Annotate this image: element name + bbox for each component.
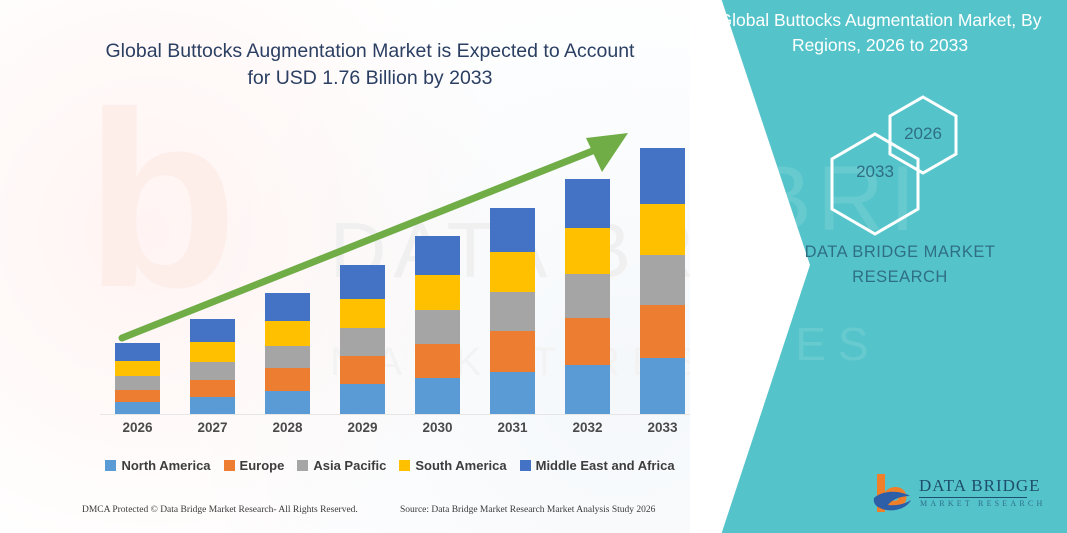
legend-label: Middle East and Africa bbox=[536, 458, 675, 473]
bar-segment-europe bbox=[115, 390, 160, 403]
bar-segment-north-america bbox=[340, 384, 385, 414]
bar-segment-south-america bbox=[265, 321, 310, 345]
bar-segment-middle-east-and-africa bbox=[565, 179, 610, 229]
x-axis-label-2033: 2033 bbox=[633, 420, 693, 435]
svg-text:RES: RES bbox=[750, 318, 881, 370]
legend-label: South America bbox=[415, 458, 506, 473]
dbmr-logo-mark bbox=[872, 472, 918, 516]
x-axis-label-2029: 2029 bbox=[333, 420, 393, 435]
chart-legend: North AmericaEuropeAsia PacificSouth Ame… bbox=[90, 455, 690, 475]
legend-item-south-america[interactable]: South America bbox=[399, 458, 506, 473]
bar-segment-south-america bbox=[565, 228, 610, 274]
legend-label: North America bbox=[121, 458, 210, 473]
bar-segment-middle-east-and-africa bbox=[340, 265, 385, 298]
x-axis-labels: 20262027202820292030203120322033 bbox=[80, 420, 700, 444]
bar-segment-north-america bbox=[265, 391, 310, 414]
hexagon-label-2033: 2033 bbox=[835, 162, 915, 182]
bar-2027 bbox=[190, 319, 235, 414]
bar-2028 bbox=[265, 293, 310, 414]
x-axis-label-2026: 2026 bbox=[108, 420, 168, 435]
panel-brand: DATA BRIDGE MARKET RESEARCH bbox=[760, 240, 1040, 290]
x-axis-line bbox=[100, 414, 700, 415]
bar-segment-asia-pacific bbox=[115, 376, 160, 390]
bar-2029 bbox=[340, 265, 385, 414]
legend-item-europe[interactable]: Europe bbox=[224, 458, 285, 473]
bar-segment-north-america bbox=[640, 358, 685, 414]
legend-item-asia-pacific[interactable]: Asia Pacific bbox=[297, 458, 386, 473]
bar-segment-south-america bbox=[490, 252, 535, 293]
panel-title: Global Buttocks Augmentation Market, By … bbox=[705, 8, 1055, 58]
bar-2026 bbox=[115, 343, 160, 414]
bar-segment-middle-east-and-africa bbox=[115, 343, 160, 361]
bar-segment-middle-east-and-africa bbox=[415, 236, 460, 275]
bar-segment-north-america bbox=[415, 378, 460, 414]
bar-2033 bbox=[640, 148, 685, 414]
bar-segment-south-america bbox=[190, 342, 235, 362]
bar-segment-south-america bbox=[340, 299, 385, 329]
stacked-bar-chart bbox=[80, 110, 700, 415]
legend-swatch bbox=[520, 460, 531, 471]
x-axis-label-2030: 2030 bbox=[408, 420, 468, 435]
legend-swatch bbox=[224, 460, 235, 471]
bar-segment-asia-pacific bbox=[565, 274, 610, 318]
hexagon-label-2026: 2026 bbox=[883, 124, 963, 144]
bar-2032 bbox=[565, 179, 610, 414]
page-title: Global Buttocks Augmentation Market is E… bbox=[105, 38, 635, 92]
bar-segment-north-america bbox=[190, 397, 235, 414]
bar-segment-south-america bbox=[415, 275, 460, 310]
bar-2031 bbox=[490, 208, 535, 414]
bar-segment-middle-east-and-africa bbox=[640, 148, 685, 204]
legend-swatch bbox=[297, 460, 308, 471]
bar-segment-north-america bbox=[565, 365, 610, 414]
footer-copyright: DMCA Protected © Data Bridge Market Rese… bbox=[82, 505, 358, 515]
footer-source: Source: Data Bridge Market Research Mark… bbox=[400, 505, 655, 515]
bar-segment-europe bbox=[265, 368, 310, 391]
dbmr-logo: DATA BRIDGE MARKET RESEARCH bbox=[872, 472, 1052, 518]
bar-segment-europe bbox=[415, 344, 460, 378]
dbmr-logo-line2: MARKET RESEARCH bbox=[920, 499, 1045, 508]
legend-label: Asia Pacific bbox=[313, 458, 386, 473]
dbmr-logo-rule bbox=[919, 497, 1027, 498]
bar-segment-south-america bbox=[115, 361, 160, 376]
bar-segment-asia-pacific bbox=[490, 292, 535, 331]
bar-segment-europe bbox=[190, 380, 235, 397]
right-panel: BRI RES Global Buttocks Augmentation Mar… bbox=[690, 0, 1067, 533]
bar-segment-north-america bbox=[115, 402, 160, 414]
legend-swatch bbox=[105, 460, 116, 471]
bar-segment-europe bbox=[640, 305, 685, 358]
x-axis-label-2027: 2027 bbox=[183, 420, 243, 435]
bar-segment-asia-pacific bbox=[415, 310, 460, 343]
legend-item-middle-east-and-africa[interactable]: Middle East and Africa bbox=[520, 458, 675, 473]
bar-2030 bbox=[415, 236, 460, 414]
legend-swatch bbox=[399, 460, 410, 471]
bar-segment-asia-pacific bbox=[265, 346, 310, 369]
bar-segment-europe bbox=[490, 331, 535, 372]
bar-segment-asia-pacific bbox=[190, 362, 235, 380]
bar-segment-south-america bbox=[640, 204, 685, 255]
footer: DMCA Protected © Data Bridge Market Rese… bbox=[0, 505, 720, 527]
bar-segment-middle-east-and-africa bbox=[265, 293, 310, 321]
bar-segment-asia-pacific bbox=[640, 255, 685, 305]
legend-item-north-america[interactable]: North America bbox=[105, 458, 210, 473]
bar-segment-europe bbox=[340, 356, 385, 384]
x-axis-label-2028: 2028 bbox=[258, 420, 318, 435]
dbmr-logo-line1: DATA BRIDGE bbox=[919, 476, 1041, 496]
bar-segment-middle-east-and-africa bbox=[190, 319, 235, 342]
x-axis-label-2031: 2031 bbox=[483, 420, 543, 435]
bar-segment-europe bbox=[565, 318, 610, 365]
legend-label: Europe bbox=[240, 458, 285, 473]
x-axis-label-2032: 2032 bbox=[558, 420, 618, 435]
bar-segment-north-america bbox=[490, 372, 535, 414]
bar-segment-middle-east-and-africa bbox=[490, 208, 535, 252]
bar-segment-asia-pacific bbox=[340, 328, 385, 356]
infographic-canvas: b DATA BRIDGE MARKET RESEARCH Global But… bbox=[0, 0, 1067, 533]
